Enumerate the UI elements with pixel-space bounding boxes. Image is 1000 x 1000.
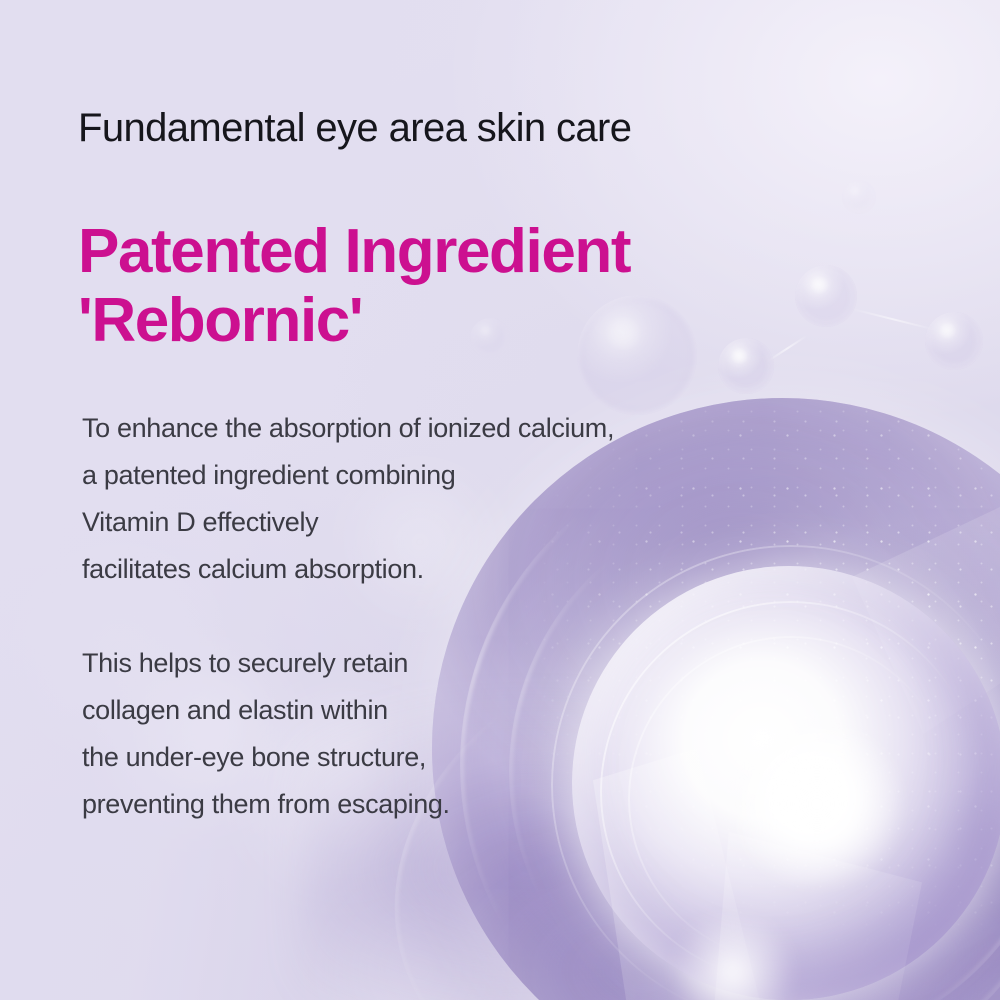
water-droplet bbox=[925, 312, 983, 370]
body-line: collagen and elastin within bbox=[82, 695, 388, 725]
paragraph-spacer bbox=[82, 593, 614, 640]
body-line: To enhance the absorption of ionized cal… bbox=[82, 413, 614, 443]
eyebrow-heading: Fundamental eye area skin care bbox=[78, 106, 631, 151]
headline-line-2: 'Rebornic' bbox=[78, 286, 630, 355]
paragraph-1: To enhance the absorption of ionized cal… bbox=[82, 405, 614, 593]
body-line: Vitamin D effectively bbox=[82, 507, 318, 537]
text-content: Fundamental eye area skin care Patented … bbox=[78, 0, 818, 1000]
droplet-filament bbox=[852, 308, 936, 331]
paragraph-2: This helps to securely retain collagen a… bbox=[82, 640, 614, 828]
page-title: Patented Ingredient 'Rebornic' bbox=[78, 217, 630, 356]
body-copy: To enhance the absorption of ionized cal… bbox=[82, 405, 614, 828]
body-line: facilitates calcium absorption. bbox=[82, 554, 424, 584]
product-promo-banner: Fundamental eye area skin care Patented … bbox=[0, 0, 1000, 1000]
headline-line-1: Patented Ingredient bbox=[78, 217, 630, 286]
body-line: a patented ingredient combining bbox=[82, 460, 455, 490]
body-line: preventing them from escaping. bbox=[82, 789, 450, 819]
water-droplet bbox=[842, 180, 876, 214]
body-line: the under-eye bone structure, bbox=[82, 742, 426, 772]
body-line: This helps to securely retain bbox=[82, 648, 408, 678]
